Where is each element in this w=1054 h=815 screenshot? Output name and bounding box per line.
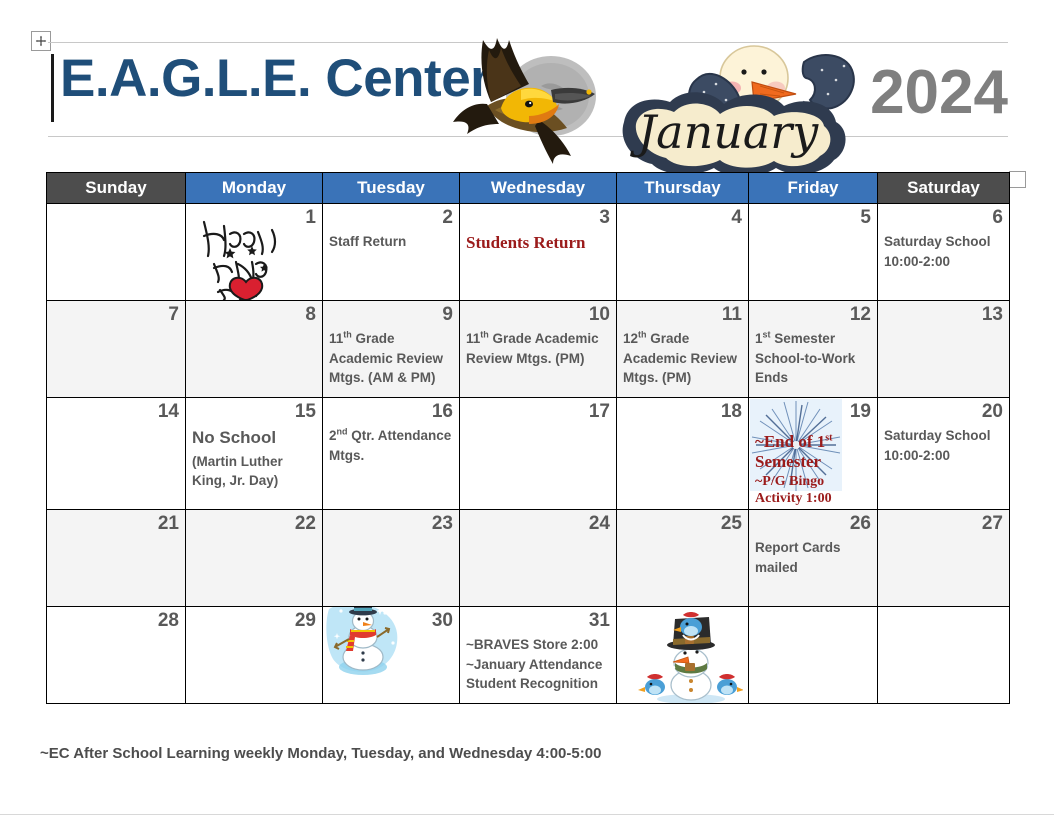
day-cell-30[interactable]: 30 xyxy=(323,607,460,704)
day-number: 17 xyxy=(466,402,610,422)
january-banner-clipart: January xyxy=(608,26,898,191)
day-cell-13[interactable]: 13 xyxy=(878,301,1010,398)
event-subtext-highlight: ~P/G Bingo Activity 1:00 xyxy=(755,474,871,508)
day-cell-9[interactable]: 9 11th Grade Academic Review Mtgs. (AM &… xyxy=(323,301,460,398)
day-number: 8 xyxy=(192,305,316,325)
table-resize-handle[interactable] xyxy=(1009,171,1026,188)
day-number: 12 xyxy=(755,305,871,325)
day-number: 27 xyxy=(884,514,1003,534)
day-number: 19 xyxy=(755,402,871,422)
day-cell-empty[interactable] xyxy=(47,204,186,301)
event-text: ~January Attendance Student Recognition xyxy=(466,655,610,694)
event-subtext: (Martin Luther King, Jr. Day) xyxy=(192,452,316,491)
day-number: 15 xyxy=(192,402,316,422)
event-text: 12th Grade Academic Review Mtgs. (PM) xyxy=(623,329,742,388)
day-cell-8[interactable]: 8 xyxy=(186,301,323,398)
day-cell-12[interactable]: 12 1st Semester School-to-Work Ends xyxy=(749,301,878,398)
day-number: 20 xyxy=(884,402,1003,422)
page-title: E.A.G.L.E. Center xyxy=(60,52,490,105)
title-accent-bar xyxy=(51,54,54,122)
event-text-highlight: Students Return xyxy=(466,232,610,254)
day-cell-20[interactable]: 20 Saturday School 10:00-2:00 xyxy=(878,398,1010,510)
day-number: 21 xyxy=(53,514,179,534)
day-cell-14[interactable]: 14 xyxy=(47,398,186,510)
calendar-week-row: 21 22 23 24 25 26 Report Cards mailed xyxy=(47,510,1010,607)
svg-text:January: January xyxy=(630,105,820,159)
day-number: 7 xyxy=(53,305,179,325)
event-time: 10:00-2:00 xyxy=(884,446,1003,466)
day-cell-18[interactable]: 18 xyxy=(617,398,749,510)
day-cell-6[interactable]: 6 Saturday School 10:00-2:00 xyxy=(878,204,1010,301)
day-cell-empty[interactable] xyxy=(617,607,749,704)
day-number: 3 xyxy=(466,208,610,228)
event-text: ~BRAVES Store 2:00 xyxy=(466,635,610,655)
day-number: 30 xyxy=(329,611,453,631)
day-cell-5[interactable]: 5 xyxy=(749,204,878,301)
day-number: 18 xyxy=(623,402,742,422)
day-number: 22 xyxy=(192,514,316,534)
day-number: 6 xyxy=(884,208,1003,228)
day-cell-7[interactable]: 7 xyxy=(47,301,186,398)
event-text: 1st Semester School-to-Work Ends xyxy=(755,329,871,388)
page-header: E.A.G.L.E. Center 2024 xyxy=(48,40,1008,155)
day-header-sunday: Sunday xyxy=(47,173,186,204)
day-cell-21[interactable]: 21 xyxy=(47,510,186,607)
document-page: E.A.G.L.E. Center 2024 xyxy=(0,0,1054,815)
event-text: Saturday School xyxy=(884,232,1003,252)
day-cell-10[interactable]: 10 11th Grade Academic Review Mtgs. (PM) xyxy=(460,301,617,398)
day-cell-26[interactable]: 26 Report Cards mailed xyxy=(749,510,878,607)
footer-note: ~EC After School Learning weekly Monday,… xyxy=(40,745,601,762)
day-number: 9 xyxy=(329,305,453,325)
day-number: 31 xyxy=(466,611,610,631)
day-cell-28[interactable]: 28 xyxy=(47,607,186,704)
day-cell-empty[interactable] xyxy=(749,607,878,704)
calendar-week-row: 1 2 Staff Return 3 Students Return 4 5 xyxy=(47,204,1010,301)
day-cell-17[interactable]: 17 xyxy=(460,398,617,510)
day-cell-4[interactable]: 4 xyxy=(617,204,749,301)
day-cell-29[interactable]: 29 xyxy=(186,607,323,704)
event-text: 2nd Qtr. Attendance Mtgs. xyxy=(329,426,453,465)
snowman-with-birds-clipart xyxy=(633,607,743,704)
day-number: 23 xyxy=(329,514,453,534)
day-cell-15[interactable]: 15 No School (Martin Luther King, Jr. Da… xyxy=(186,398,323,510)
day-number: 5 xyxy=(755,208,871,228)
day-number: 14 xyxy=(53,402,179,422)
day-number: 13 xyxy=(884,305,1003,325)
calendar-header-row: Sunday Monday Tuesday Wednesday Thursday… xyxy=(47,173,1010,204)
day-cell-24[interactable]: 24 xyxy=(460,510,617,607)
day-number: 25 xyxy=(623,514,742,534)
day-number: 28 xyxy=(53,611,179,631)
event-text: Report Cards mailed xyxy=(755,538,871,577)
day-cell-11[interactable]: 11 12th Grade Academic Review Mtgs. (PM) xyxy=(617,301,749,398)
day-number: 24 xyxy=(466,514,610,534)
eagle-logo-icon xyxy=(443,24,623,174)
calendar-table: Sunday Monday Tuesday Wednesday Thursday… xyxy=(46,172,1010,704)
day-number: 2 xyxy=(329,208,453,228)
day-number: 16 xyxy=(329,402,453,422)
day-header-friday: Friday xyxy=(749,173,878,204)
day-cell-25[interactable]: 25 xyxy=(617,510,749,607)
day-header-thursday: Thursday xyxy=(617,173,749,204)
event-text: 11th Grade Academic Review Mtgs. (PM) xyxy=(466,329,610,368)
day-header-wednesday: Wednesday xyxy=(460,173,617,204)
day-cell-16[interactable]: 16 2nd Qtr. Attendance Mtgs. xyxy=(323,398,460,510)
day-header-saturday: Saturday xyxy=(878,173,1010,204)
day-cell-27[interactable]: 27 xyxy=(878,510,1010,607)
day-cell-2[interactable]: 2 Staff Return xyxy=(323,204,460,301)
day-number: 26 xyxy=(755,514,871,534)
event-text: Staff Return xyxy=(329,232,453,252)
day-cell-3[interactable]: 3 Students Return xyxy=(460,204,617,301)
day-number: 11 xyxy=(623,305,742,325)
day-cell-1[interactable]: 1 xyxy=(186,204,323,301)
event-text-highlight: ~End of 1st Semester xyxy=(755,432,871,473)
day-header-tuesday: Tuesday xyxy=(323,173,460,204)
event-text: No School xyxy=(192,426,316,451)
event-text: 11th Grade Academic Review Mtgs. (AM & P… xyxy=(329,329,453,388)
calendar-week-row: 14 15 No School (Martin Luther King, Jr.… xyxy=(47,398,1010,510)
day-cell-empty[interactable] xyxy=(878,607,1010,704)
day-cell-19[interactable]: 19 ~End of 1st Semester ~P/G Bingo Activ… xyxy=(749,398,878,510)
day-number: 4 xyxy=(623,208,742,228)
event-text: Saturday School xyxy=(884,426,1003,446)
event-time: 10:00-2:00 xyxy=(884,252,1003,272)
day-cell-31[interactable]: 31 ~BRAVES Store 2:00 ~January Attendanc… xyxy=(460,607,617,704)
calendar-week-row: 28 29 xyxy=(47,607,1010,704)
calendar-week-row: 7 8 9 11th Grade Academic Review Mtgs. (… xyxy=(47,301,1010,398)
day-cell-23[interactable]: 23 xyxy=(323,510,460,607)
day-header-monday: Monday xyxy=(186,173,323,204)
day-number: 29 xyxy=(192,611,316,631)
day-number: 1 xyxy=(192,208,316,228)
day-cell-22[interactable]: 22 xyxy=(186,510,323,607)
day-number: 10 xyxy=(466,305,610,325)
